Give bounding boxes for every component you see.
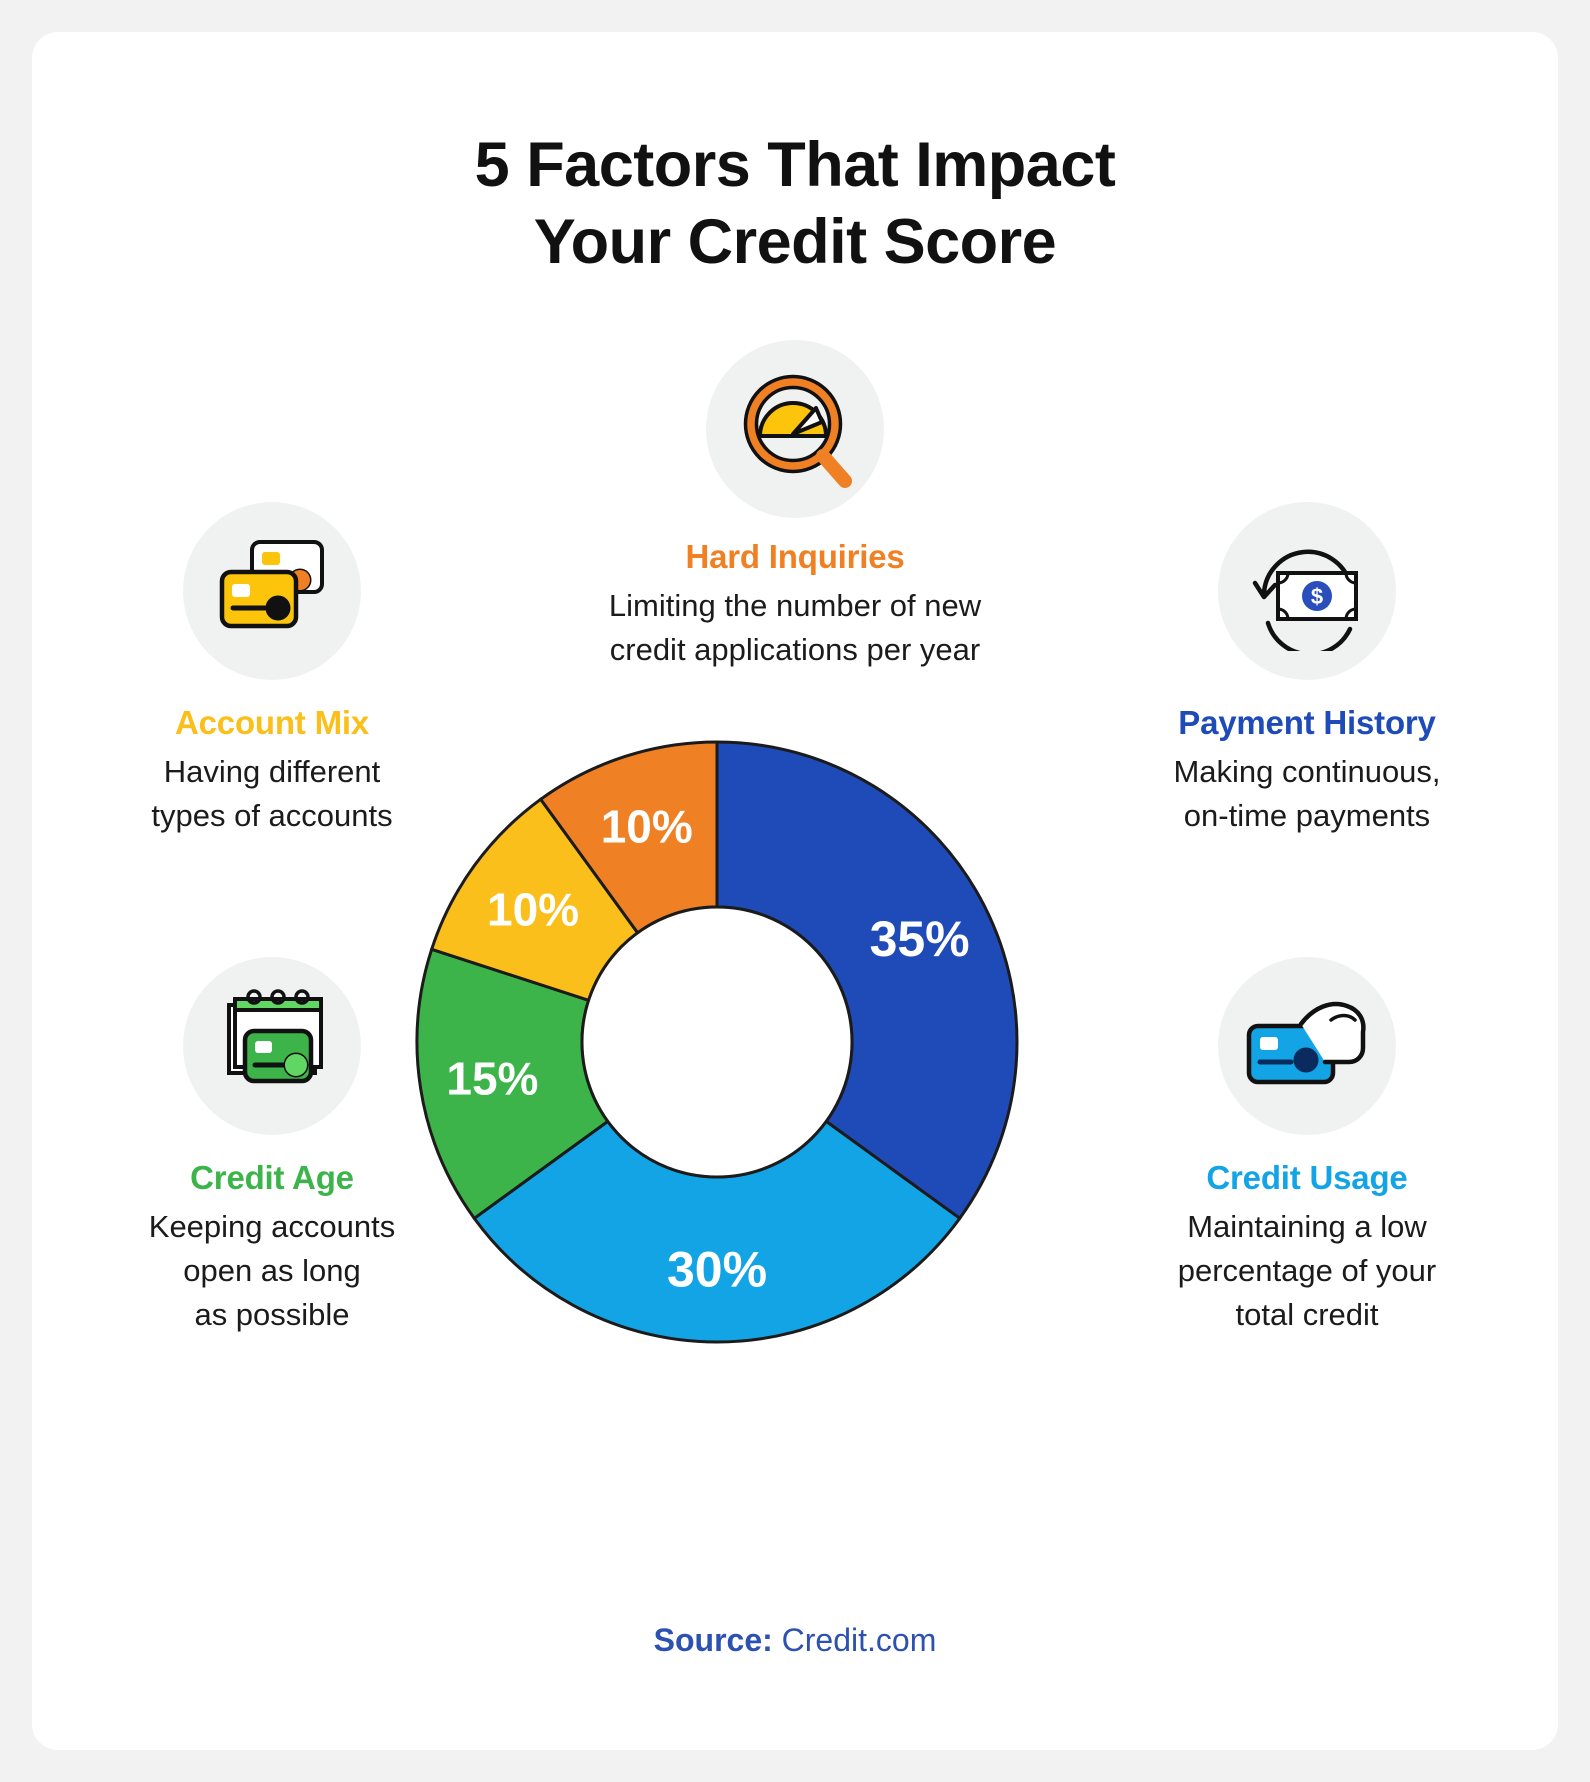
- desc-line-2: percentage of your: [1178, 1253, 1437, 1288]
- source-label: Source:: [654, 1622, 773, 1658]
- title-line-1: 5 Factors That Impact: [32, 127, 1558, 204]
- factor-credit-usage: Credit Usage Maintaining a low percentag…: [1122, 957, 1492, 1337]
- credit-cards-icon: [183, 502, 361, 680]
- desc-line-3: total credit: [1235, 1297, 1378, 1332]
- factor-heading: Credit Usage: [1122, 1159, 1492, 1197]
- factor-payment-history: $ Payment History Making continuous, on-…: [1122, 502, 1492, 838]
- desc-line-1: Maintaining a low: [1187, 1209, 1427, 1244]
- title-line-2: Your Credit Score: [32, 204, 1558, 281]
- desc-line-1: Having different: [164, 754, 381, 789]
- factor-heading: Payment History: [1122, 704, 1492, 742]
- factor-description: Making continuous, on-time payments: [1122, 750, 1492, 838]
- source-attribution: Source: Credit.com: [32, 1622, 1558, 1659]
- donut-slice-label: 35%: [870, 911, 970, 967]
- desc-line-2: open as long: [183, 1253, 361, 1288]
- magnifier-gauge-icon: [706, 340, 884, 518]
- factor-hard-inquiries: Hard Inquiries Limiting the number of ne…: [475, 340, 1115, 672]
- desc-line-2: types of accounts: [151, 798, 392, 833]
- factor-description: Maintaining a low percentage of your tot…: [1122, 1205, 1492, 1337]
- svg-text:$: $: [1311, 584, 1323, 609]
- recurring-money-icon: $: [1218, 502, 1396, 680]
- donut-center-hole: [582, 907, 852, 1177]
- infographic-card: 5 Factors That Impact Your Credit Score …: [32, 32, 1558, 1750]
- desc-line-1: Keeping accounts: [149, 1209, 395, 1244]
- donut-slice-label: 15%: [446, 1053, 538, 1105]
- factor-heading: Hard Inquiries: [475, 538, 1115, 576]
- desc-line-1: Making continuous,: [1173, 754, 1440, 789]
- page-title: 5 Factors That Impact Your Credit Score: [32, 127, 1558, 281]
- donut-slice-label: 10%: [487, 883, 579, 935]
- source-value: Credit.com: [782, 1622, 937, 1658]
- calendar-card-icon: [183, 957, 361, 1135]
- factor-description: Limiting the number of new credit applic…: [475, 584, 1115, 672]
- donut-slice-label: 30%: [667, 1241, 767, 1297]
- desc-line-3: as possible: [194, 1297, 349, 1332]
- donut-chart-svg: 35%30%15%10%10%: [397, 722, 1037, 1362]
- donut-slice-label: 10%: [601, 801, 693, 853]
- desc-line-2: credit applications per year: [610, 632, 980, 667]
- desc-line-1: Limiting the number of new: [609, 588, 981, 623]
- hand-card-icon: [1218, 957, 1396, 1135]
- credit-score-donut-chart: 35%30%15%10%10%: [397, 722, 1037, 1362]
- desc-line-2: on-time payments: [1184, 798, 1430, 833]
